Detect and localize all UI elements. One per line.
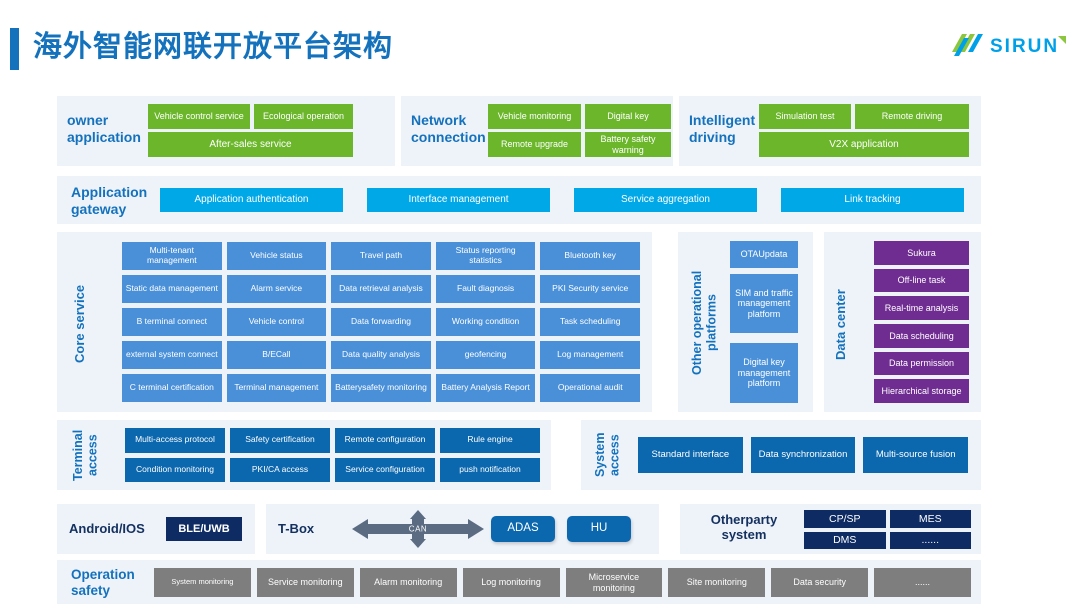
gateway-item-application-authentication[interactable]: Application authentication [160, 188, 343, 212]
app-item-vehicle-control-service[interactable]: Vehicle control service [148, 104, 250, 129]
operation-safety-label: Operation safety [71, 567, 135, 599]
core-cell[interactable]: Task scheduling [540, 308, 640, 336]
intelligent-driving-label: Intelligent driving [689, 112, 755, 145]
otherparty-item[interactable]: DMS [804, 532, 886, 550]
label-line-1: Intelligent [689, 112, 755, 129]
core-cell[interactable]: Battery Analysis Report [436, 374, 536, 402]
core-cell[interactable]: Log management [540, 341, 640, 369]
gateway-item-interface-management[interactable]: Interface management [367, 188, 550, 212]
data-center-item[interactable]: Sukura [874, 241, 969, 265]
platform-item-ota-update[interactable]: OTAUpdata [730, 241, 798, 268]
core-cell[interactable]: Status reporting statistics [436, 242, 536, 270]
label-line-2: connection [411, 129, 486, 146]
terminal-access-item[interactable]: push notification [440, 458, 540, 483]
other-platforms-panel: Other operational platforms OTAUpdata SI… [678, 232, 813, 412]
terminal-access-item[interactable]: Rule engine [440, 428, 540, 453]
label-line-1: Network [411, 112, 486, 129]
app-item-vehicle-monitoring[interactable]: Vehicle monitoring [488, 104, 581, 129]
core-cell[interactable]: C terminal certification [122, 374, 222, 402]
safety-item[interactable]: Data security [771, 568, 868, 597]
core-cell[interactable]: Data quality analysis [331, 341, 431, 369]
core-cell[interactable]: Bluetooth key [540, 242, 640, 270]
core-cell[interactable]: Travel path [331, 242, 431, 270]
otherparty-system-label: Otherparty system [694, 512, 794, 543]
terminal-access-item[interactable]: Condition monitoring [125, 458, 225, 483]
operation-safety-panel: Operation safety System monitoring Servi… [57, 560, 981, 604]
label-line-2: system [694, 527, 794, 542]
terminal-access-panel: Terminal access Multi-access protocol Sa… [57, 420, 551, 490]
app-item-after-sales-service[interactable]: After-sales service [148, 132, 353, 157]
app-item-ecological-operation[interactable]: Ecological operation [254, 104, 353, 129]
application-gateway-label: Application gateway [71, 184, 147, 217]
core-service-panel: Core service Multi-tenant management Veh… [57, 232, 652, 412]
sirun-slash-logo [952, 34, 983, 56]
device-item-hu[interactable]: HU [567, 516, 631, 542]
safety-item[interactable]: System monitoring [154, 568, 251, 597]
label-line-1: owner [67, 112, 141, 129]
otherparty-item[interactable]: CP/SP [804, 510, 886, 528]
system-access-label: System access [593, 427, 627, 483]
owner-application-label: owner application [67, 112, 141, 145]
system-access-item[interactable]: Data synchronization [751, 437, 856, 473]
data-center-panel: Data center Sukura Off-line task Real-ti… [824, 232, 981, 412]
page-header: 海外智能网联开放平台架构 SIRUN [0, 22, 1080, 76]
safety-item[interactable]: Site monitoring [668, 568, 765, 597]
terminal-access-grid: Multi-access protocol Safety certificati… [125, 428, 540, 482]
core-cell[interactable]: Vehicle control [227, 308, 327, 336]
terminal-access-item[interactable]: Remote configuration [335, 428, 435, 453]
gateway-item-service-aggregation[interactable]: Service aggregation [574, 188, 757, 212]
core-cell[interactable]: B terminal connect [122, 308, 222, 336]
sirun-logo: SIRUN [946, 30, 1066, 64]
terminal-access-item[interactable]: Multi-access protocol [125, 428, 225, 453]
app-item-simulation-test[interactable]: Simulation test [759, 104, 851, 129]
label-line-2: gateway [71, 201, 147, 218]
core-cell[interactable]: Multi-tenant management [122, 242, 222, 270]
core-cell[interactable]: Terminal management [227, 374, 327, 402]
core-cell[interactable]: B/ECall [227, 341, 327, 369]
label-line-2: safety [71, 583, 135, 599]
core-cell[interactable]: Batterysafety monitoring [331, 374, 431, 402]
application-gateway-panel: Application gateway Application authenti… [57, 176, 981, 224]
app-item-remote-driving[interactable]: Remote driving [855, 104, 969, 129]
core-cell[interactable]: Fault diagnosis [436, 275, 536, 303]
system-access-panel: System access Standard interface Data sy… [581, 420, 981, 490]
safety-item[interactable]: Microservice monitoring [566, 568, 663, 597]
core-cell[interactable]: PKI Security service [540, 275, 640, 303]
terminal-access-item[interactable]: Service configuration [335, 458, 435, 483]
data-center-label: Data center [834, 280, 868, 370]
safety-item[interactable]: Log monitoring [463, 568, 560, 597]
gateway-item-link-tracking[interactable]: Link tracking [781, 188, 964, 212]
system-access-row: Standard interface Data synchronization … [638, 437, 968, 473]
label-line-1: Operation [71, 567, 135, 583]
app-item-remote-upgrade[interactable]: Remote upgrade [488, 132, 581, 157]
otherparty-item[interactable]: ...... [890, 532, 972, 550]
data-center-list: Sukura Off-line task Real-time analysis … [874, 241, 969, 403]
data-center-item[interactable]: Data permission [874, 352, 969, 376]
core-cell[interactable]: Operational audit [540, 374, 640, 402]
label-line-2: driving [689, 129, 755, 146]
otherparty-grid: CP/SP MES DMS ...... [804, 510, 971, 549]
architecture-diagram: 海外智能网联开放平台架构 SIRUN owner application Veh… [0, 0, 1080, 608]
core-cell[interactable]: Vehicle status [227, 242, 327, 270]
android-ios-label: Android/IOS [69, 521, 145, 536]
owner-application-panel: owner application Vehicle control servic… [57, 96, 395, 166]
app-item-digital-key[interactable]: Digital key [585, 104, 671, 129]
android-ios-panel: Android/IOS BLE/UWB [57, 504, 255, 554]
title-accent-bar [10, 28, 19, 70]
platform-item-digital-key-platform[interactable]: Digital key management platform [730, 343, 798, 403]
core-service-label: Core service [73, 274, 107, 374]
other-platforms-label: Other operational platforms [690, 250, 724, 395]
otherparty-item[interactable]: MES [890, 510, 972, 528]
safety-item[interactable]: ...... [874, 568, 971, 597]
device-item-ble-uwb[interactable]: BLE/UWB [166, 517, 242, 541]
terminal-access-label: Terminal access [71, 425, 105, 485]
core-cell[interactable]: Working condition [436, 308, 536, 336]
system-access-item[interactable]: Multi-source fusion [863, 437, 968, 473]
operation-safety-row: System monitoring Service monitoring Ala… [154, 568, 971, 597]
tbox-label: T-Box [278, 521, 314, 536]
tbox-panel: T-Box CAN ADAS HU [266, 504, 659, 554]
label-line-1: Otherparty [694, 512, 794, 527]
terminal-access-item[interactable]: PKI/CA access [230, 458, 330, 483]
core-cell[interactable]: geofencing [436, 341, 536, 369]
network-connection-panel: Network connection Vehicle monitoring Di… [401, 96, 673, 166]
network-connection-label: Network connection [411, 112, 486, 145]
platform-item-sim-traffic-platform[interactable]: SIM and traffic management platform [730, 274, 798, 333]
intelligent-driving-panel: Intelligent driving Simulation test Remo… [679, 96, 981, 166]
data-center-item[interactable]: Hierarchical storage [874, 379, 969, 403]
core-cell[interactable]: Static data management [122, 275, 222, 303]
terminal-access-item[interactable]: Safety certification [230, 428, 330, 453]
label-line-2: application [67, 129, 141, 146]
core-cell[interactable]: Data retrieval analysis [331, 275, 431, 303]
core-service-grid: Multi-tenant management Vehicle status T… [122, 242, 640, 402]
core-cell[interactable]: Data forwarding [331, 308, 431, 336]
label-line-1: Application [71, 184, 147, 201]
data-center-item[interactable]: Real-time analysis [874, 296, 969, 320]
data-center-item[interactable]: Data scheduling [874, 324, 969, 348]
core-cell[interactable]: external system connect [122, 341, 222, 369]
can-bus-arrow: CAN [352, 510, 484, 548]
safety-item[interactable]: Alarm monitoring [360, 568, 457, 597]
app-item-v2x-application[interactable]: V2X application [759, 132, 969, 157]
system-access-item[interactable]: Standard interface [638, 437, 743, 473]
app-item-battery-safety-warning[interactable]: Battery safety warning [585, 132, 671, 157]
device-item-adas[interactable]: ADAS [491, 516, 555, 542]
page-title: 海外智能网联开放平台架构 [33, 22, 393, 70]
data-center-item[interactable]: Off-line task [874, 269, 969, 293]
otherparty-system-panel: Otherparty system CP/SP MES DMS ...... [680, 504, 981, 554]
safety-item[interactable]: Service monitoring [257, 568, 354, 597]
can-label: CAN [352, 525, 484, 534]
core-cell[interactable]: Alarm service [227, 275, 327, 303]
logo-text: SIRUN [990, 36, 1059, 57]
